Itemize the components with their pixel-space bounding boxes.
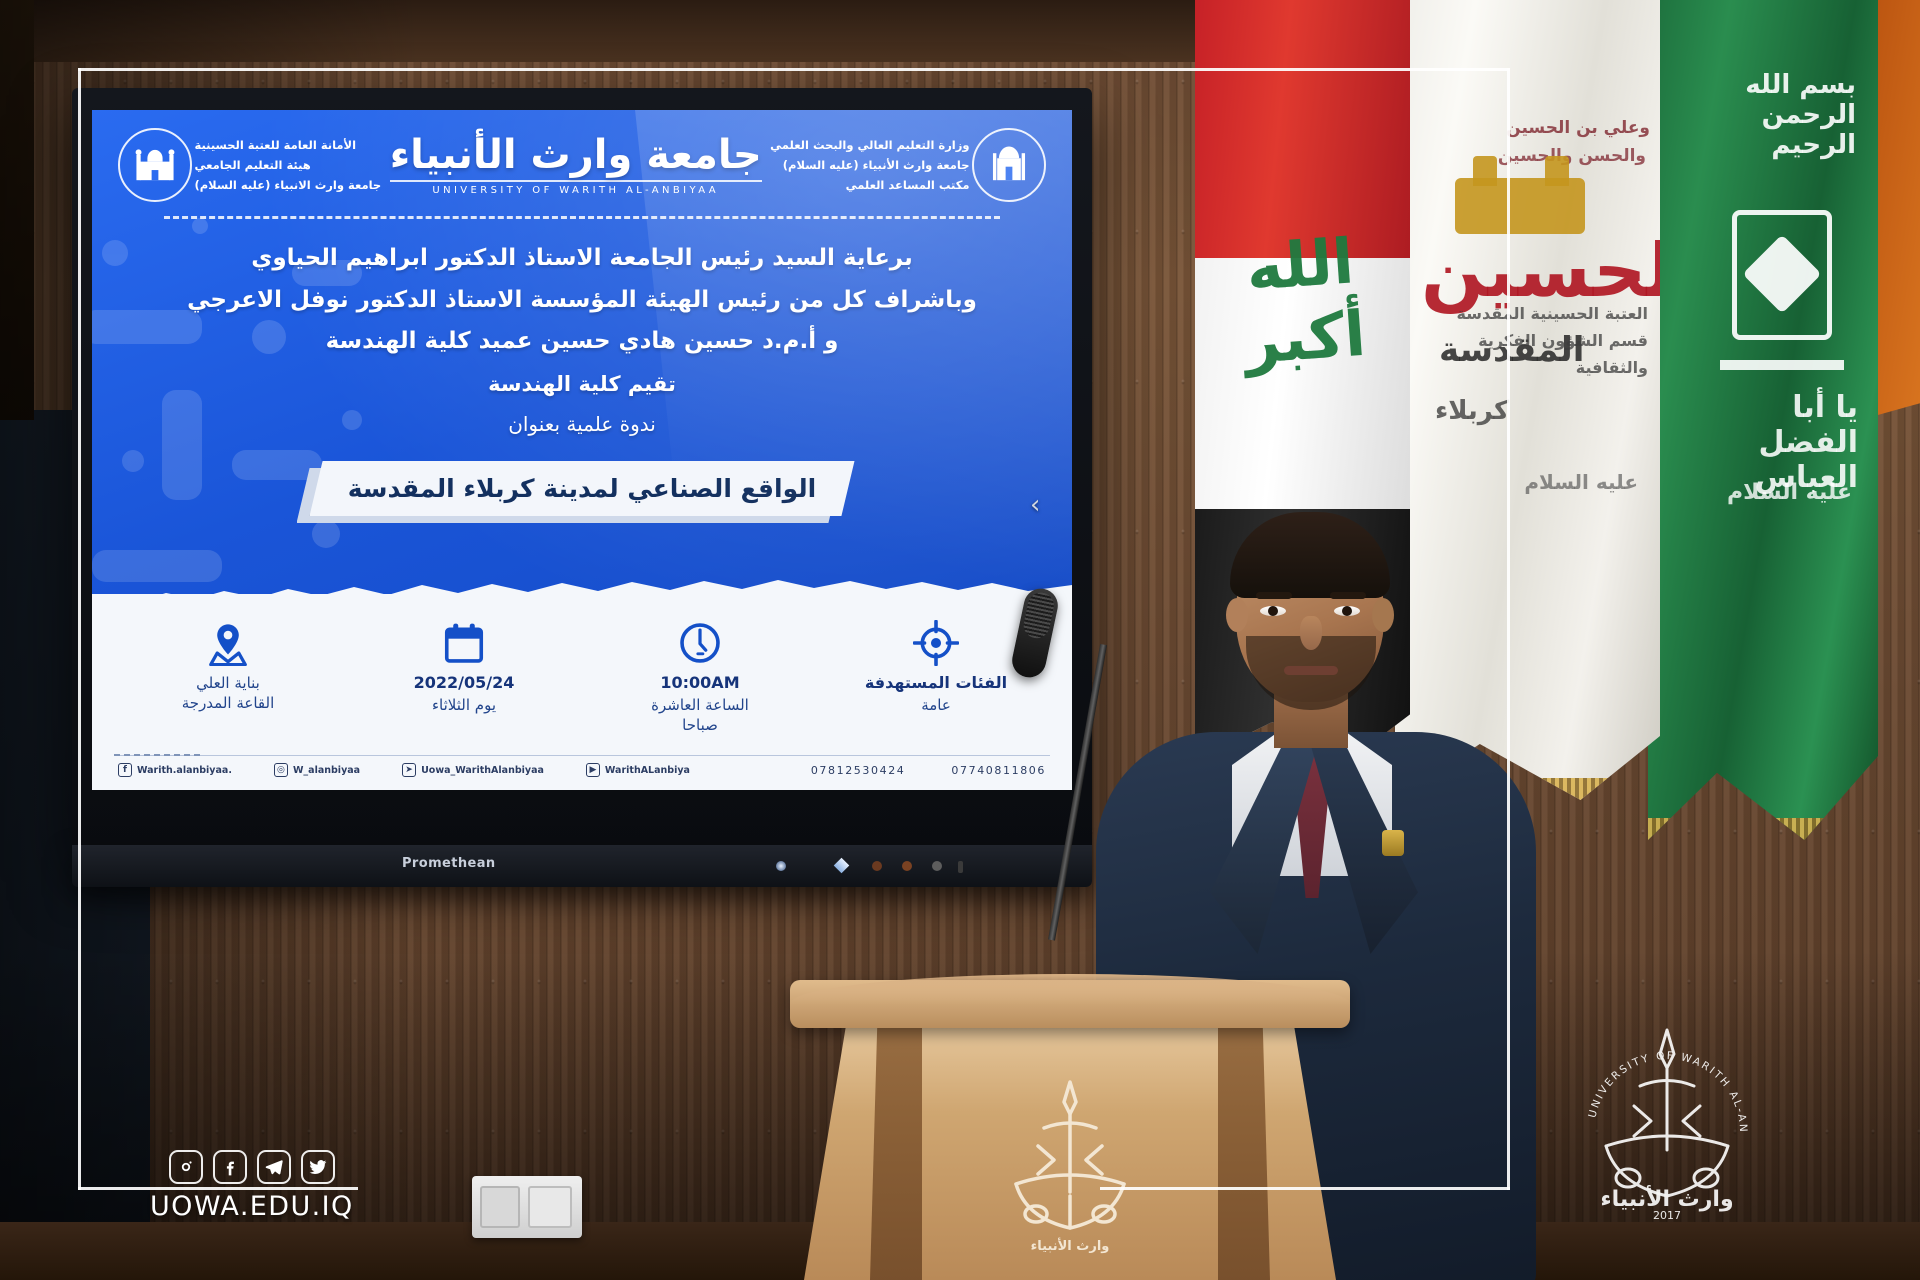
indicator-led-3	[932, 861, 942, 871]
socket-outlet-left	[480, 1186, 520, 1228]
calendar-icon	[441, 620, 487, 666]
poster-header: الأمانة العامة للعتبة الحسينية هيئة التع…	[92, 110, 1072, 208]
location-pin-icon	[205, 620, 251, 666]
social-telegram[interactable]: ➤ Uowa_WarithAlanbiyaa	[402, 763, 544, 777]
poster-line-4: تقيم كلية الهندسة	[132, 369, 1032, 401]
watermark-url: UOWA.EDU.IQ	[150, 1191, 354, 1222]
wall-power-socket	[472, 1176, 582, 1238]
smart-board[interactable]: الأمانة العامة للعتبة الحسينية هيئة التع…	[72, 88, 1092, 856]
speaker-brow-left	[1256, 592, 1292, 599]
event-photo-scene: بسم الله الرحمن الرحيم يا أبا الفضل العب…	[0, 0, 1920, 1280]
chevron-left-icon[interactable]: ‹	[1030, 490, 1040, 520]
watermark-social-block: UOWA.EDU.IQ	[150, 1150, 354, 1222]
seminar-poster: الأمانة العامة للعتبة الحسينية هيئة التع…	[92, 110, 1072, 790]
instagram-icon: ◎	[274, 763, 288, 777]
facebook-icon: f	[118, 763, 132, 777]
poster-header-right-text: وزارة التعليم العالي والبحث العلمي جامعة…	[770, 135, 969, 195]
poster-title-banner: الواقع الصناعي لمدينة كربلاء المقدسة	[310, 461, 855, 516]
social-facebook-handle: Warith.alanbiyaa.	[137, 765, 232, 776]
university-logo-english: UNIVERSITY OF WARITH AL-ANBIYAA	[390, 180, 762, 196]
iraq-flag-red-stripe	[1195, 0, 1410, 258]
social-youtube[interactable]: ▶ WarithALanbiya	[586, 763, 690, 777]
watermark-university-logo: UNIVERSITY OF WARITH AL-ANBIYAA وارث الأ…	[1572, 1022, 1762, 1222]
home-button[interactable]	[834, 858, 850, 874]
poster-line-3: و أ.م.د حسين هادي حسين عميد كلية الهندسة	[132, 324, 1032, 359]
shrine-seal-icon	[118, 128, 192, 202]
phone-1: 07812530424	[811, 764, 906, 777]
telegram-icon: ➤	[402, 763, 416, 777]
info-time: 10:00AM الساعة العاشرة صباحا	[582, 620, 818, 736]
poster-line-5: ندوة علمية بعنوان	[132, 409, 1032, 439]
social-instagram[interactable]: ◎ W_alanbiyaa	[274, 763, 360, 777]
indicator-led-1	[872, 861, 882, 871]
poster-torn-paper-section: بناية العلي القاعة المدرجة 2022/05/24 يو…	[92, 594, 1072, 790]
smart-board-bezel-bottom: Promethean	[72, 845, 1092, 887]
speaker-ear-left	[1226, 598, 1248, 632]
info-audience-small: عامة	[818, 695, 1054, 715]
info-date-big: 2022/05/24	[346, 673, 582, 692]
social-instagram-handle: W_alanbiyaa	[293, 765, 360, 776]
svg-text:UNIVERSITY OF WARITH AL-ANBIYA: UNIVERSITY OF WARITH AL-ANBIYAA	[1572, 1022, 1749, 1134]
poster-title: الواقع الصناعي لمدينة كربلاء المقدسة	[310, 461, 855, 516]
power-button[interactable]	[776, 861, 786, 871]
instagram-icon[interactable]	[169, 1150, 203, 1184]
podium-stripe-left	[870, 1024, 922, 1280]
indicator-led-2	[902, 861, 912, 871]
info-time-big: 10:00AM	[582, 673, 818, 692]
socket-outlet-right	[528, 1186, 572, 1228]
microphone-grille	[1021, 590, 1056, 640]
iraq-flag-takbir: الله أكبر	[1195, 221, 1410, 382]
university-logo-arabic: جامعة وارث الأنبياء	[390, 135, 762, 175]
clock-icon	[677, 620, 723, 666]
watermark-social-icons	[150, 1150, 354, 1184]
info-date-small: يوم الثلاثاء	[346, 695, 582, 715]
speaker-mouth	[1284, 666, 1338, 675]
poster-line-2: وباشراف كل من رئيس الهيئة المؤسسة الاستا…	[132, 283, 1032, 318]
info-location-small: بناية العلي القاعة المدرجة	[110, 673, 346, 714]
wooden-podium: وارث الأنبياء	[790, 980, 1350, 1280]
target-icon	[913, 620, 959, 666]
speaker-pupil-right	[1342, 606, 1352, 616]
poster-header-left-text: الأمانة العامة للعتبة الحسينية هيئة التع…	[194, 135, 381, 195]
speaker-hair	[1230, 512, 1390, 598]
info-time-small: الساعة العاشرة صباحا	[582, 695, 818, 736]
smart-board-screen[interactable]: الأمانة العامة للعتبة الحسينية هيئة التع…	[92, 110, 1072, 790]
social-facebook[interactable]: f Warith.alanbiyaa.	[118, 763, 232, 777]
twitter-icon[interactable]	[301, 1150, 335, 1184]
university-logo: جامعة وارث الأنبياء UNIVERSITY OF WARITH…	[384, 135, 768, 196]
display-brand-label: Promethean	[402, 856, 496, 871]
social-youtube-handle: WarithALanbiya	[605, 765, 690, 776]
social-telegram-handle: Uowa_WarithAlanbiyaa	[421, 765, 544, 776]
poster-social-row: f Warith.alanbiyaa. ◎ W_alanbiyaa ➤ Uowa…	[118, 759, 1046, 781]
speaker-lapel-pin	[1382, 830, 1404, 856]
poster-footer-separator	[114, 755, 1050, 756]
poster-phone-numbers: 07812530424 07740811806	[811, 764, 1046, 777]
info-date: 2022/05/24 يوم الثلاثاء	[346, 620, 582, 736]
facebook-icon[interactable]	[213, 1150, 247, 1184]
poster-body: برعاية السيد رئيس الجامعة الاستاذ الدكتو…	[92, 219, 1072, 439]
svg-text:وارث الأنبياء: وارث الأنبياء	[1031, 1237, 1110, 1254]
phone-2: 07740811806	[951, 764, 1046, 777]
speaker-brow-right	[1330, 592, 1366, 599]
svg-text:وارث الأنبياء: وارث الأنبياء	[1600, 1184, 1733, 1212]
green-religious-banner-flag: بسم الله الرحمن الرحيم يا أبا الفضل العب…	[1648, 0, 1878, 840]
poster-line-1: برعاية السيد رئيس الجامعة الاستاذ الدكتو…	[132, 241, 1032, 276]
poster-footer-dash	[114, 754, 200, 756]
podium-university-emblem: وارث الأنبياء	[980, 1072, 1160, 1262]
speaker-pupil-left	[1268, 606, 1278, 616]
podium-stripe-right	[1218, 1024, 1270, 1280]
svg-text:2017: 2017	[1653, 1209, 1681, 1222]
speaker-nose	[1300, 616, 1322, 650]
poster-info-row: بناية العلي القاعة المدرجة 2022/05/24 يو…	[92, 620, 1072, 736]
info-audience-big: الفئات المستهدفة	[818, 673, 1054, 692]
speaker-ear-right	[1372, 598, 1394, 632]
youtube-icon: ▶	[586, 763, 600, 777]
telegram-icon[interactable]	[257, 1150, 291, 1184]
info-location: بناية العلي القاعة المدرجة	[110, 620, 346, 736]
sensor-slot	[958, 861, 963, 873]
shrine-dome-seal-icon	[972, 128, 1046, 202]
